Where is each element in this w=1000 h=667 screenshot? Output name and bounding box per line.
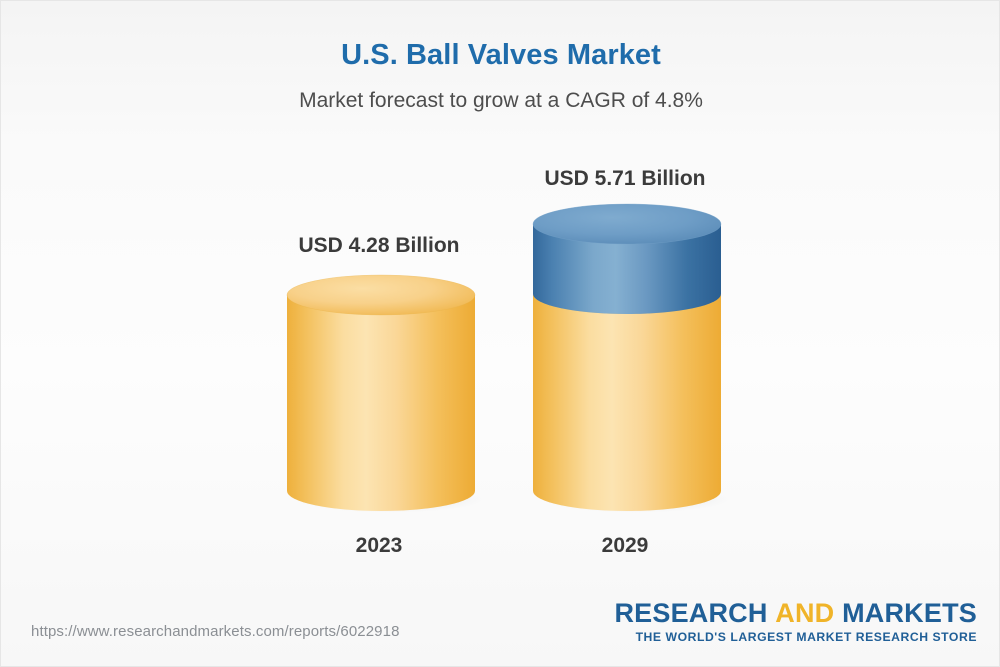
category-label-2029: 2029: [435, 534, 815, 558]
logo-word-and: AND: [775, 598, 834, 628]
bar-chart: USD 4.28 Billion: [1, 1, 1000, 667]
source-url-link[interactable]: https://www.researchandmarkets.com/repor…: [31, 623, 400, 640]
bar-value-label-2023: USD 4.28 Billion: [189, 234, 569, 258]
logo-word-research: RESEARCH: [614, 598, 767, 628]
infographic-canvas: U.S. Ball Valves Market Market forecast …: [0, 0, 1000, 667]
research-and-markets-logo[interactable]: RESEARCH AND MARKETS THE WORLD'S LARGEST…: [614, 599, 977, 645]
logo-wordmark: RESEARCH AND MARKETS: [614, 599, 977, 627]
bar-value-label-2029: USD 5.71 Billion: [435, 167, 815, 191]
logo-tagline: THE WORLD'S LARGEST MARKET RESEARCH STOR…: [614, 630, 977, 645]
bar-cylinder-2023: [287, 275, 475, 515]
bar-cylinder-2029: [533, 202, 721, 515]
logo-word-markets: MARKETS: [842, 598, 977, 628]
